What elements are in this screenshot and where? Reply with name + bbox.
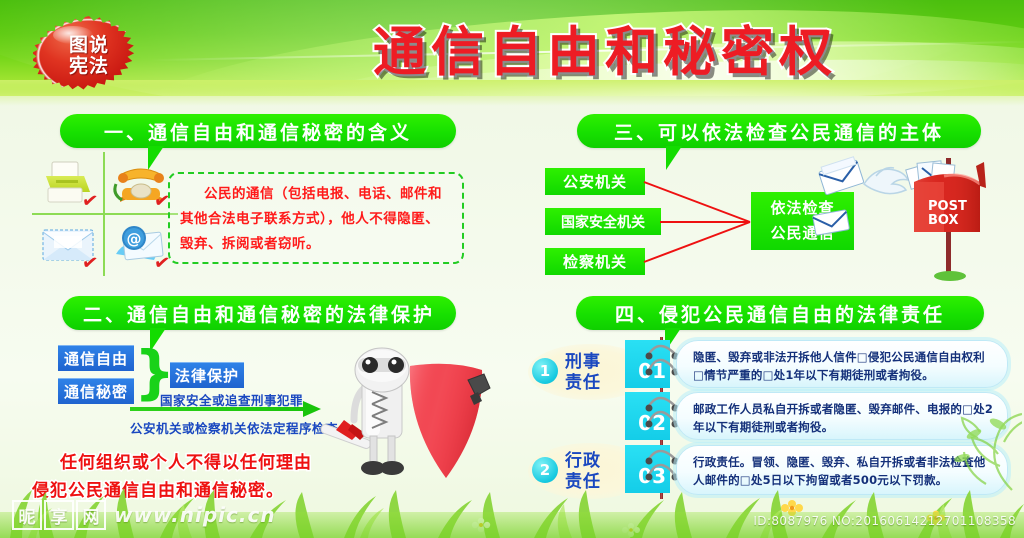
item-01-text: 隐匿、毁弃或非法开拆他人信件□侵犯公民通信自由权利□情节严重的□处1年以下有期徒… — [677, 341, 1007, 384]
arrow-shaft — [130, 407, 305, 411]
section-1-heading: 一、通信自由和通信秘密的含义 — [60, 114, 456, 148]
grid-hline — [32, 213, 178, 215]
blue-box-communication-freedom: 通信自由 — [58, 345, 134, 371]
poster-root: 图说 宪法 通信自由和秘密权 一、通信自由和通信秘密的含义 ✔ — [0, 0, 1024, 538]
arrow-bottom-label: 公安机关或检察机关依法定程序检查 — [130, 418, 338, 437]
mailbox-label-line-2: BOX — [928, 213, 959, 228]
org-box-procuratorate: 检察机关 — [545, 248, 645, 275]
watermark-url: www.nipic.cn — [114, 503, 276, 527]
section-3-tail — [666, 146, 682, 170]
section-1-definition-text: 公民的通信（包括电报、电话、邮件和其他合法电子联系方式），他人不得隐匿、毁弃、拆… — [170, 174, 462, 257]
section-3-heading: 三、可以依法检查公民通信的主体 — [577, 114, 981, 148]
category-1-number: 1 — [532, 358, 558, 384]
category-1-line-1: 刑事 — [565, 352, 601, 373]
watermark-logo: 昵 享 网 — [12, 500, 106, 530]
section-4-heading: 四、侵犯公民通信自由的法律责任 — [576, 296, 984, 330]
section-3-connector-lines — [640, 168, 760, 278]
green-arrow-icon — [130, 404, 330, 413]
blue-box-legal-protection: 法律保护 — [170, 362, 244, 388]
seal-line-1: 图说 — [69, 35, 109, 56]
site-watermark: 昵 享 网 www.nipic.cn — [12, 500, 276, 530]
category-1-label: 刑事 责任 — [565, 352, 601, 394]
section-1-definition-box: 公民的通信（包括电报、电话、邮件和其他合法电子联系方式），他人不得隐匿、毁弃、拆… — [168, 172, 464, 264]
page-title: 通信自由和秘密权 — [345, 22, 865, 84]
section-1-icon-grid: ✔ ✔ ✔ — [32, 152, 178, 276]
watermark-char-2: 享 — [44, 500, 74, 530]
category-1-line-2: 责任 — [565, 373, 601, 394]
seal-line-2: 宪法 — [69, 56, 109, 77]
brace-icon: } — [134, 342, 152, 404]
check-envelope-icon: ✔ — [81, 251, 100, 275]
section-2-heading: 二、通信自由和通信秘密的法律保护 — [62, 296, 456, 330]
seal-badge: 图说 宪法 — [33, 16, 145, 96]
check-fax-icon: ✔ — [81, 189, 100, 213]
mailbox-icon: POST BOX — [888, 152, 1008, 284]
mailbox-label-line-1: POST — [928, 199, 967, 214]
seal-text: 图说 宪法 — [33, 16, 145, 96]
svg-text:@: @ — [127, 230, 142, 248]
blue-box-communication-secrecy: 通信秘密 — [58, 378, 134, 404]
watermark-char-3: 网 — [76, 500, 106, 530]
org-box-public-security: 公安机关 — [545, 168, 645, 195]
watermark-char-1: 昵 — [12, 500, 42, 530]
image-id-text: ID:8087976 NO:20160614212701108358 — [753, 514, 1016, 528]
